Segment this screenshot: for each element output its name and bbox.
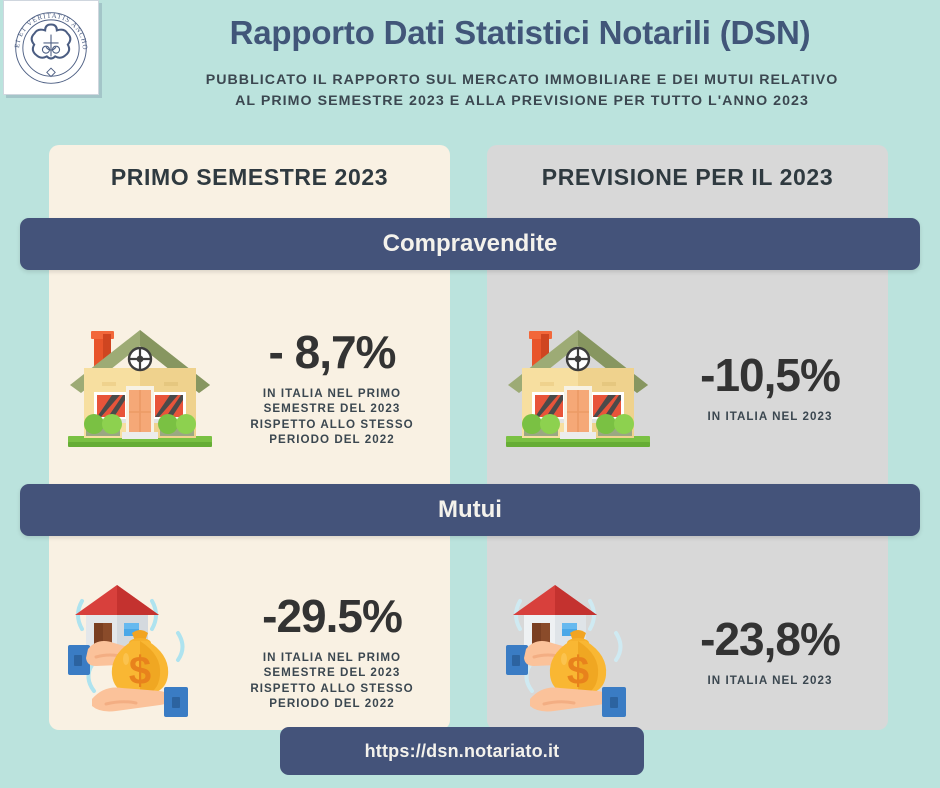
- stat-caption: IN ITALIA NEL PRIMO SEMESTRE DEL 2023 RI…: [225, 650, 439, 712]
- section-banner-compravendite: Compravendite: [20, 218, 920, 270]
- mortgage-hands-icon: $: [55, 571, 225, 731]
- caption-line: PERIODO DEL 2022: [225, 432, 439, 448]
- stat-cell-mutui-previsione: $ -23,8% IN ITALIA NEL 2023: [493, 556, 883, 746]
- column-header-left: PRIMO SEMESTRE 2023: [49, 164, 450, 191]
- notary-seal-logo: FIDEI ET VERITATIS ANCHORA: [9, 6, 93, 90]
- stat-value: -10,5%: [663, 350, 877, 400]
- caption-line: IN ITALIA NEL PRIMO: [225, 650, 439, 666]
- page-title: Rapporto Dati Statistici Notarili (DSN): [110, 14, 930, 52]
- section-banner-label: Compravendite: [383, 230, 558, 258]
- logo-container: FIDEI ET VERITATIS ANCHORA: [3, 0, 99, 95]
- caption-line: SEMESTRE DEL 2023: [225, 665, 439, 681]
- stat-caption: IN ITALIA NEL PRIMO SEMESTRE DEL 2023 RI…: [225, 386, 439, 448]
- svg-text:$: $: [567, 649, 589, 693]
- caption-line: IN ITALIA NEL 2023: [663, 673, 877, 689]
- stat-text-block: -23,8% IN ITALIA NEL 2023: [663, 614, 883, 689]
- section-banner-mutui: Mutui: [20, 484, 920, 536]
- caption-line: SEMESTRE DEL 2023: [225, 401, 439, 417]
- stat-value: -23,8%: [663, 614, 877, 664]
- caption-line: RISPETTO ALLO STESSO: [225, 417, 439, 433]
- mortgage-hands-icon: $: [493, 571, 663, 731]
- subtitle-line-1: PUBBLICATO IL RAPPORTO SUL MERCATO IMMOB…: [110, 70, 934, 91]
- mortgage-hands-icon-svg: $: [498, 571, 658, 731]
- subtitle-line-2: AL PRIMO SEMESTRE 2023 E ALLA PREVISIONE…: [110, 91, 934, 112]
- website-url-button[interactable]: https://dsn.notariato.it: [280, 727, 644, 775]
- section-banner-label: Mutui: [438, 496, 502, 524]
- svg-text:$: $: [129, 649, 151, 693]
- stat-caption: IN ITALIA NEL 2023: [663, 673, 877, 689]
- house-icon: [55, 307, 225, 467]
- stat-text-block: -29.5% IN ITALIA NEL PRIMO SEMESTRE DEL …: [225, 591, 445, 712]
- house-icon-svg: [60, 312, 220, 462]
- stat-caption: IN ITALIA NEL 2023: [663, 409, 877, 425]
- caption-line: IN ITALIA NEL PRIMO: [225, 386, 439, 402]
- stat-text-block: - 8,7% IN ITALIA NEL PRIMO SEMESTRE DEL …: [225, 327, 445, 448]
- house-icon: [493, 307, 663, 467]
- stat-value: -29.5%: [225, 591, 439, 641]
- stat-text-block: -10,5% IN ITALIA NEL 2023: [663, 350, 883, 425]
- header: FIDEI ET VERITATIS ANCHORA Rapporto Dati…: [0, 0, 940, 130]
- mortgage-hands-icon-svg: $: [60, 571, 220, 731]
- caption-line: IN ITALIA NEL 2023: [663, 409, 877, 425]
- column-header-right: PREVISIONE PER IL 2023: [487, 164, 888, 191]
- stat-cell-mutui-semestre: $ -29.5% IN ITALIA NEL PRIMO SEMESTRE DE…: [55, 556, 445, 746]
- stat-cell-compravendite-previsione: -10,5% IN ITALIA NEL 2023: [493, 292, 883, 482]
- caption-line: PERIODO DEL 2022: [225, 696, 439, 712]
- stat-cell-compravendite-semestre: - 8,7% IN ITALIA NEL PRIMO SEMESTRE DEL …: [55, 292, 445, 482]
- page-subtitle: PUBBLICATO IL RAPPORTO SUL MERCATO IMMOB…: [110, 70, 934, 112]
- house-icon-svg: [498, 312, 658, 462]
- caption-line: RISPETTO ALLO STESSO: [225, 681, 439, 697]
- stat-value: - 8,7%: [225, 327, 439, 377]
- website-url-label: https://dsn.notariato.it: [365, 741, 560, 762]
